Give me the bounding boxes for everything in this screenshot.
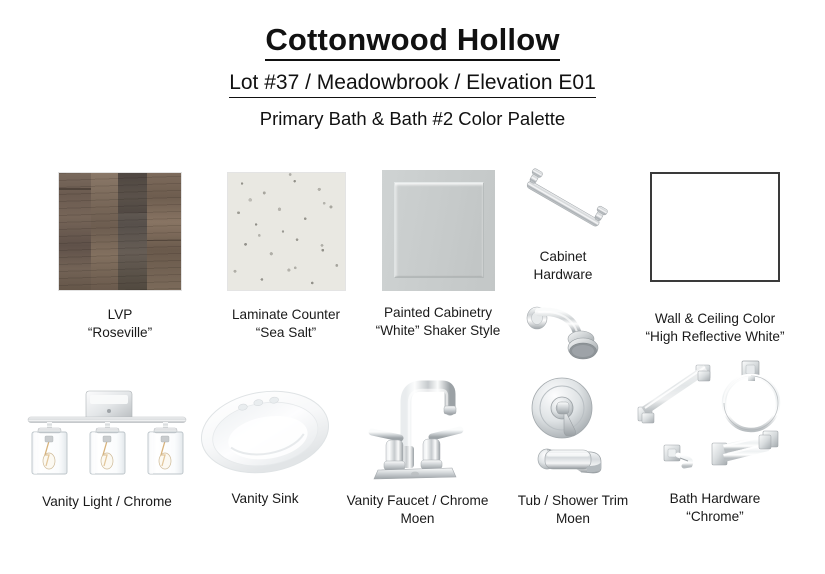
- palette-item-bath-hardware: Bath Hardware “Chrome”: [620, 358, 810, 526]
- tub-shower-trim-image: [517, 372, 629, 484]
- palette-item-vanity-sink-caption: Vanity Sink: [192, 490, 338, 508]
- laminate-counter-swatch: [227, 172, 346, 291]
- palette-item-cabinet-hardware: Cabinet Hardware: [500, 168, 626, 284]
- palette-item-counter: Laminate Counter “Sea Salt”: [200, 172, 372, 342]
- vanity-light-image: [14, 379, 200, 483]
- palette-item-vanity-faucet-caption: Vanity Faucet / Chrome Moen: [330, 492, 505, 528]
- color-palette-sheet: Cottonwood Hollow Lot #37 / Meadowbrook …: [0, 0, 825, 574]
- page-subtitle-lot: Lot #37 / Meadowbrook / Elevation E01: [229, 70, 596, 98]
- wall-color-swatch: [650, 172, 780, 282]
- cabinet-door-swatch: [382, 170, 495, 291]
- palette-item-vanity-sink: Vanity Sink: [192, 382, 338, 508]
- shower-head-image: [517, 298, 609, 364]
- page-title: Cottonwood Hollow: [265, 22, 559, 61]
- palette-item-wall-color-caption: Wall & Ceiling Color “High Reflective Wh…: [620, 310, 810, 346]
- palette-item-vanity-light: Vanity Light / Chrome: [12, 378, 202, 511]
- palette-item-lvp-caption: LVP “Roseville”: [34, 306, 206, 342]
- vanity-faucet-image: [360, 358, 476, 484]
- palette-item-cabinet: Painted Cabinetry “White” Shaker Style: [352, 170, 524, 340]
- palette-item-counter-caption: Laminate Counter “Sea Salt”: [200, 306, 372, 342]
- palette-item-shower-head: [504, 298, 622, 364]
- vanity-sink-image: [195, 384, 335, 480]
- page-header: Cottonwood Hollow Lot #37 / Meadowbrook …: [0, 22, 825, 131]
- palette-item-cabinet-caption: Painted Cabinetry “White” Shaker Style: [352, 304, 524, 340]
- page-subtitle-scope: Primary Bath & Bath #2 Color Palette: [0, 107, 825, 131]
- bath-hardware-image: [620, 359, 810, 485]
- palette-item-vanity-light-caption: Vanity Light / Chrome: [12, 493, 202, 511]
- palette-item-bath-hardware-caption: Bath Hardware “Chrome”: [620, 490, 810, 526]
- palette-item-wall-color: Wall & Ceiling Color “High Reflective Wh…: [620, 172, 810, 346]
- palette-item-cabinet-hardware-caption: Cabinet Hardware: [500, 248, 626, 284]
- lvp-flooring-swatch: [58, 172, 182, 291]
- palette-item-vanity-faucet: Vanity Faucet / Chrome Moen: [330, 358, 505, 528]
- palette-item-lvp: LVP “Roseville”: [34, 172, 206, 342]
- cabinet-pull-image: [508, 168, 618, 240]
